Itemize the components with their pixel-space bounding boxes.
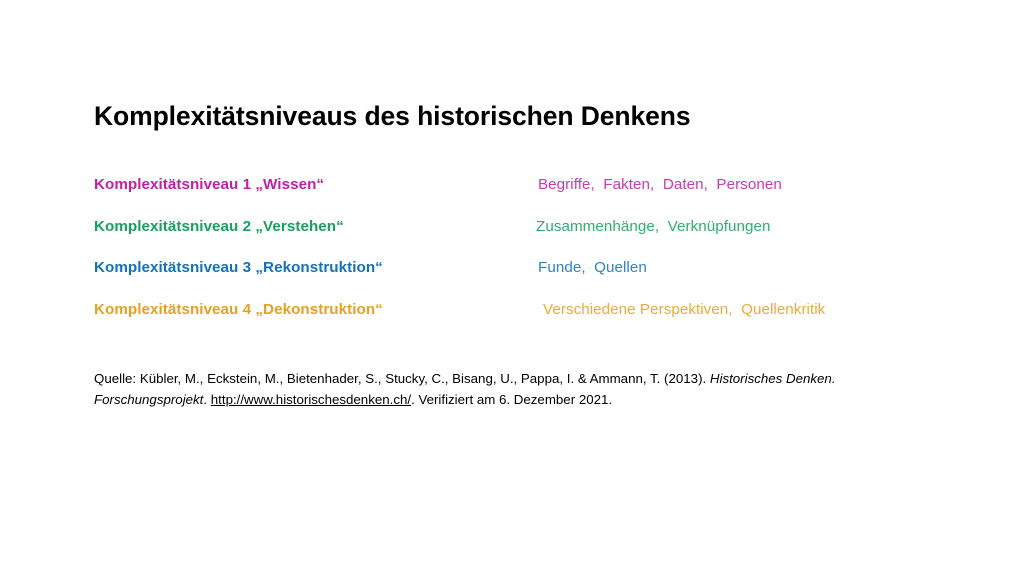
level-row: Komplexitätsniveau 1 „Wissen“ Begriffe, … — [94, 176, 924, 218]
page-title: Komplexitätsniveaus des historischen Den… — [94, 101, 690, 132]
level-3-label: Komplexitätsniveau 3 „Rekonstruktion“ — [94, 259, 383, 276]
level-2-label: Komplexitätsniveau 2 „Verstehen“ — [94, 218, 344, 235]
citation-authors-year: Quelle: Kübler, M., Eckstein, M., Bieten… — [94, 371, 710, 386]
level-1-label: Komplexitätsniveau 1 „Wissen“ — [94, 176, 324, 193]
complexity-levels-list: Komplexitätsniveau 1 „Wissen“ Begriffe, … — [94, 176, 924, 342]
level-4-label: Komplexitätsniveau 4 „Dekonstruktion“ — [94, 301, 383, 318]
citation-separator: . — [203, 392, 210, 407]
level-row: Komplexitätsniveau 2 „Verstehen“ Zusamme… — [94, 218, 924, 260]
source-citation: Quelle: Kübler, M., Eckstein, M., Bieten… — [94, 369, 894, 410]
level-row: Komplexitätsniveau 3 „Rekonstruktion“ Fu… — [94, 259, 924, 301]
level-2-description: Zusammenhänge, Verknüpfungen — [536, 218, 770, 235]
slide-canvas: Komplexitätsniveaus des historischen Den… — [0, 0, 1024, 576]
citation-url-link[interactable]: http://www.historischesdenken.ch/ — [211, 392, 411, 407]
level-1-description: Begriffe, Fakten, Daten, Personen — [538, 176, 782, 193]
level-4-description: Verschiedene Perspektiven, Quellenkritik — [543, 301, 825, 318]
level-3-description: Funde, Quellen — [538, 259, 647, 276]
citation-access-date: . Verifiziert am 6. Dezember 2021. — [411, 392, 612, 407]
level-row: Komplexitätsniveau 4 „Dekonstruktion“ Ve… — [94, 301, 924, 343]
